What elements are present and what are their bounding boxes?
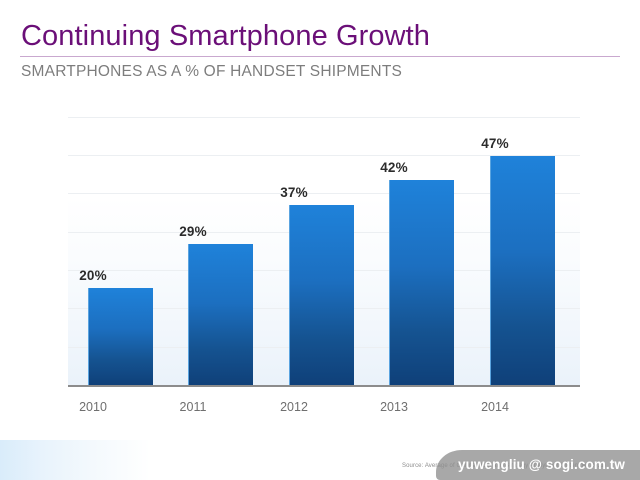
page-subtitle: SMARTPHONES AS A % OF HANDSET SHIPMENTS [21,62,402,82]
x-tick-label-2014: 2014 [455,400,535,414]
corner-wash-decoration [0,440,150,480]
bar-2010[interactable] [88,288,153,385]
x-tick-label-2010: 2010 [53,400,133,414]
title-divider [20,56,620,57]
bar-value-label-2013: 42% [354,160,434,175]
x-tick-label-2012: 2012 [254,400,334,414]
x-tick-label-2013: 2013 [354,400,434,414]
x-tick-label-2011: 2011 [153,400,233,414]
source-note: Source: Average of Gartner, IDC and Stra… [402,462,606,470]
bar-value-label-2011: 29% [153,224,233,239]
bar-chart [68,117,580,385]
bar-2011[interactable] [188,244,253,385]
bar-2013[interactable] [389,180,454,385]
page-title: Continuing Smartphone Growth [21,19,430,53]
bar-value-label-2010: 20% [53,268,133,283]
x-axis-line [68,385,580,387]
bar-value-label-2012: 37% [254,185,334,200]
bar-value-label-2014: 47% [455,136,535,151]
bar-2014[interactable] [490,156,555,385]
bar-2012[interactable] [289,205,354,385]
